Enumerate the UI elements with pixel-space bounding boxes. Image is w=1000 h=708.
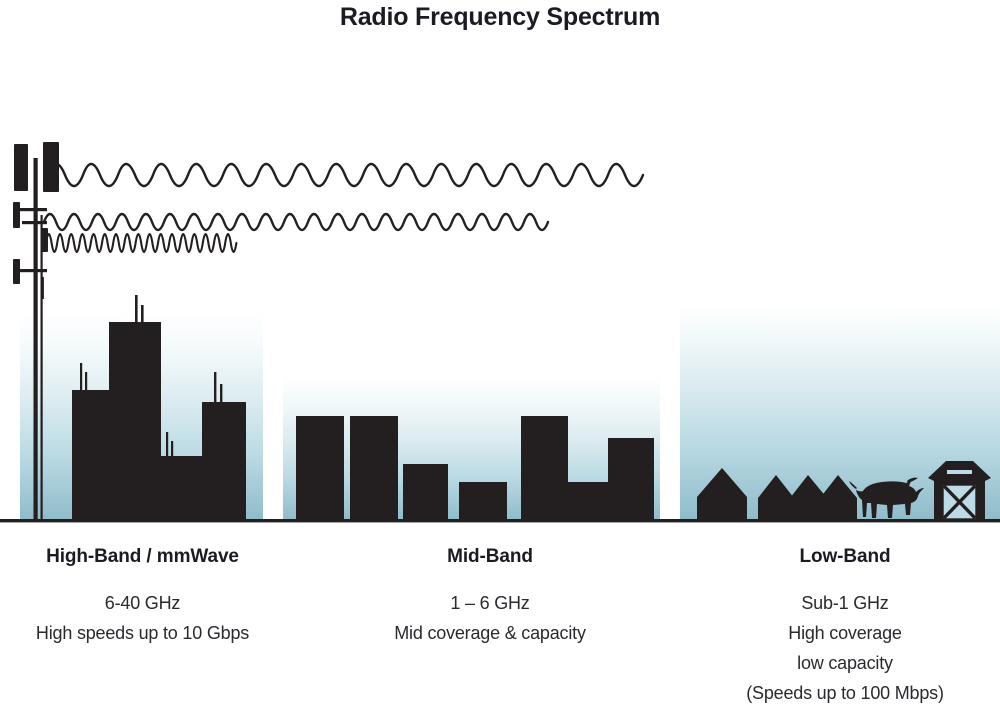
building-spire xyxy=(85,372,87,392)
band-detail-frequency: 6-40 GHz xyxy=(0,588,285,618)
tower-crossarm-upper xyxy=(13,208,47,211)
band-detail-speed: (Speeds up to 100 Mbps) xyxy=(690,678,1000,708)
building xyxy=(350,416,398,520)
building xyxy=(296,416,344,520)
band-title-high-band: High-Band / mmWave xyxy=(0,546,285,568)
band-detail-frequency: Sub-1 GHz xyxy=(690,588,1000,618)
caption-column-low-band: Low-Band Sub-1 GHz High coverage low cap… xyxy=(690,546,1000,708)
building xyxy=(72,390,114,520)
tower-mast xyxy=(34,158,38,520)
ground-line xyxy=(0,519,1000,522)
building-spire xyxy=(171,441,173,456)
band-detail-coverage: Mid coverage & capacity xyxy=(345,618,635,648)
radio-waves xyxy=(44,164,643,252)
building-spire xyxy=(220,384,222,402)
high-band-wave xyxy=(46,234,236,252)
mid-band-wave xyxy=(44,214,548,230)
antenna-panel-left xyxy=(14,144,28,191)
band-detail-speed: High speeds up to 10 Gbps xyxy=(0,618,285,648)
building xyxy=(202,402,246,520)
antenna-panel-small-right xyxy=(41,228,48,252)
building xyxy=(109,322,161,520)
building xyxy=(403,464,448,520)
band-detail-coverage: High coverage xyxy=(690,618,1000,648)
tower-mast-stub xyxy=(41,277,44,299)
band-title-low-band: Low-Band xyxy=(690,546,1000,568)
building xyxy=(161,456,207,520)
building-spire xyxy=(141,305,144,323)
building xyxy=(459,482,507,520)
building-spire xyxy=(80,363,82,391)
building-spire xyxy=(135,295,138,323)
band-title-mid-band: Mid-Band xyxy=(345,546,635,568)
tower-crossarm-upper2 xyxy=(22,221,47,224)
low-band-wave xyxy=(48,164,643,186)
building-spire xyxy=(166,432,168,456)
caption-column-high-band: High-Band / mmWave 6-40 GHz High speeds … xyxy=(0,546,285,648)
antenna-panel-small-left xyxy=(13,202,20,228)
band-detail-frequency: 1 – 6 GHz xyxy=(345,588,635,618)
building xyxy=(521,416,568,520)
tower-crossarm-lower xyxy=(13,269,47,272)
caption-column-mid-band: Mid-Band 1 – 6 GHz Mid coverage & capaci… xyxy=(345,546,635,648)
building xyxy=(608,438,654,520)
antenna-panel-right xyxy=(43,142,59,192)
tower-mast-secondary xyxy=(41,215,43,520)
band-detail-capacity: low capacity xyxy=(690,648,1000,678)
barn xyxy=(928,461,991,520)
building-spire xyxy=(214,372,216,402)
building xyxy=(568,482,609,520)
